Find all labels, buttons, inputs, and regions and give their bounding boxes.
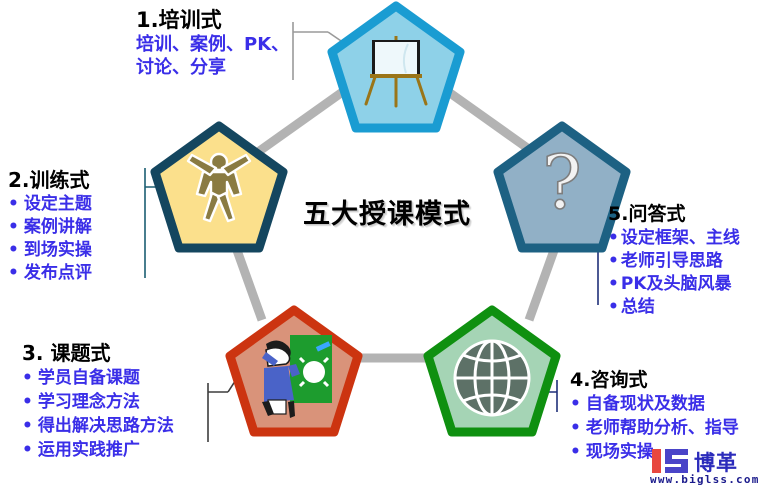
list-item-label: 自备现状及数据 — [586, 394, 705, 414]
list-item: •案例讲解 — [8, 216, 92, 239]
bullet-icon: • — [608, 297, 619, 317]
list-item: •自备现状及数据 — [570, 392, 739, 416]
list-item-label: 案例讲解 — [24, 217, 92, 237]
globe-icon — [455, 341, 529, 415]
bullet-icon: • — [608, 274, 619, 294]
list-item-label: 得出解决思路方法 — [38, 416, 174, 436]
label-heading-drill: 2.训练式 — [8, 168, 92, 193]
biglss-logo-mark-icon — [652, 449, 690, 473]
label-list-drill: •设定主题 •案例讲解 •到场实操 •发布点评 — [8, 193, 92, 285]
label-line-training-1: 培训、案例、PK、 — [136, 33, 289, 56]
bullet-icon: • — [608, 228, 619, 248]
label-heading-topic: 3. 课题式 — [22, 340, 174, 366]
bullet-icon: • — [8, 217, 19, 237]
label-block-topic: 3. 课题式 •学员自备课题 •学习理念方法 •得出解决思路方法 •运用实践推广 — [22, 340, 174, 462]
list-item: •到场实操 — [8, 239, 92, 262]
list-item: •得出解决思路方法 — [22, 414, 174, 438]
list-item: •老师帮助分析、指导 — [570, 416, 739, 440]
list-item-label: 设定框架、主线 — [621, 228, 740, 248]
list-item-label: 发布点评 — [24, 263, 92, 283]
bullet-icon: • — [22, 392, 33, 412]
logo-url: www.biglss.com — [650, 473, 760, 486]
label-list-topic: •学员自备课题 •学习理念方法 •得出解决思路方法 •运用实践推广 — [22, 366, 174, 462]
page-title: 五大授课模式 — [287, 192, 487, 231]
pentagon-node-drill[interactable] — [155, 126, 283, 248]
bullet-icon: • — [22, 440, 33, 460]
bullet-icon: • — [608, 251, 619, 271]
bullet-icon: • — [570, 418, 581, 438]
bullet-icon: • — [570, 394, 581, 414]
bullet-icon: • — [8, 263, 19, 283]
list-item-label: 总结 — [621, 297, 655, 317]
list-item: •学员自备课题 — [22, 366, 174, 390]
label-heading-qa: 5.问答式 — [608, 202, 740, 227]
list-item: •老师引导思路 — [608, 250, 740, 273]
bullet-icon: • — [8, 194, 19, 214]
label-heading-consulting: 4.咨询式 — [570, 368, 739, 392]
list-item-label: 学习理念方法 — [38, 392, 140, 412]
list-item-label: 到场实操 — [24, 240, 92, 260]
list-item: •PK及头脑风暴 — [608, 273, 740, 296]
svg-text:?: ? — [542, 140, 582, 226]
list-item: •总结 — [608, 296, 740, 319]
label-list-qa: •设定框架、主线 •老师引导思路 •PK及头脑风暴 •总结 — [608, 227, 740, 319]
list-item: •设定框架、主线 — [608, 227, 740, 250]
bullet-icon: • — [570, 442, 581, 462]
pentagon-node-topic[interactable] — [230, 310, 358, 432]
list-item: •设定主题 — [8, 193, 92, 216]
bullet-icon: • — [8, 240, 19, 260]
list-item: •运用实践推广 — [22, 438, 174, 462]
list-item-label: PK及头脑风暴 — [621, 274, 732, 294]
list-item-label: 运用实践推广 — [38, 440, 140, 460]
pentagon-node-training[interactable] — [332, 6, 460, 128]
pentagon-node-qa[interactable]: ? — [498, 126, 626, 248]
question-mark-icon: ? — [542, 140, 582, 226]
list-item-label: 老师帮助分析、指导 — [586, 418, 739, 438]
list-item: •学习理念方法 — [22, 390, 174, 414]
label-heading-training: 1.培训式 — [136, 8, 289, 33]
brand-logo[interactable]: 博革 www.biglss.com — [648, 447, 760, 491]
label-block-drill: 2.训练式 •设定主题 •案例讲解 •到场实操 •发布点评 — [8, 168, 92, 285]
label-block-qa: 5.问答式 •设定框架、主线 •老师引导思路 •PK及头脑风暴 •总结 — [608, 202, 740, 319]
list-item-label: 老师引导思路 — [621, 251, 723, 271]
list-item-label: 现场实操 — [586, 442, 654, 462]
list-item-label: 设定主题 — [24, 194, 92, 214]
label-block-training: 1.培训式 培训、案例、PK、 讨论、分享 — [136, 8, 289, 79]
bullet-icon: • — [22, 368, 33, 388]
list-item: •发布点评 — [8, 262, 92, 285]
label-line-training-2: 讨论、分享 — [136, 56, 289, 79]
infographic-canvas: ? — [0, 0, 764, 495]
list-item-label: 学员自备课题 — [38, 368, 140, 388]
bullet-icon: • — [22, 416, 33, 436]
pentagon-node-consulting[interactable] — [428, 310, 556, 432]
